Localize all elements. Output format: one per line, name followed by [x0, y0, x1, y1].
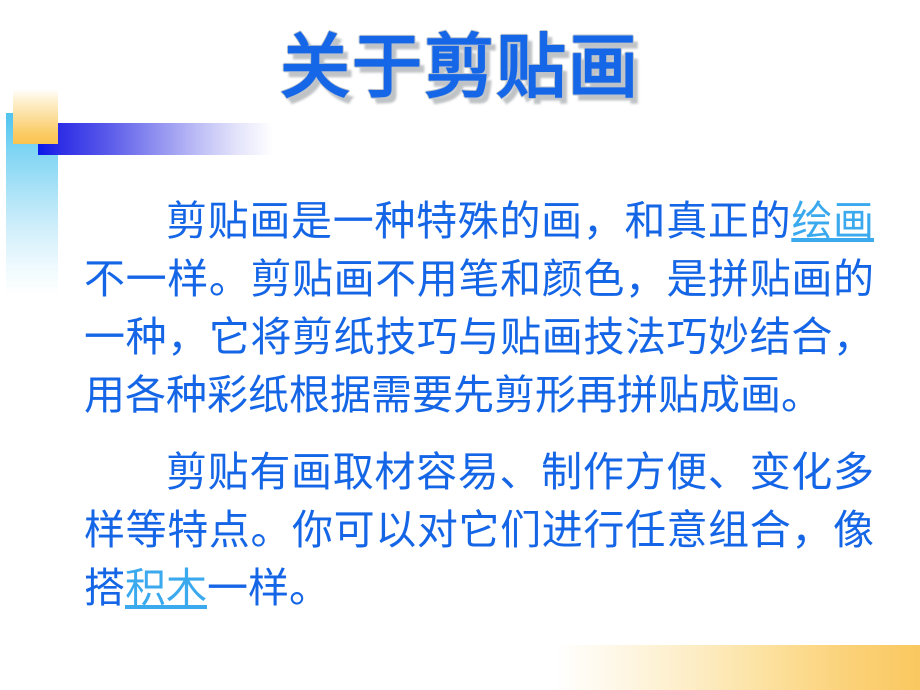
slide-title: 关于剪贴画 [0, 28, 920, 106]
paragraph-2-text-part-2: 一样。 [207, 565, 330, 611]
decoration-horizontal-blue-bar [38, 123, 273, 155]
slide-body: 剪贴画是一种特殊的画，和真正的绘画不一样。剪贴画不用笔和颜色，是拼贴画的一种，它… [84, 192, 874, 617]
link-jimu[interactable]: 积木 [125, 565, 207, 611]
decoration-bottom-orange-bar [555, 645, 920, 690]
paragraph-1: 剪贴画是一种特殊的画，和真正的绘画不一样。剪贴画不用笔和颜色，是拼贴画的一种，它… [84, 192, 874, 424]
paragraph-1-text-part-2: 不一样。剪贴画不用笔和颜色，是拼贴画的一种，它将剪纸技巧与贴画技法巧妙结合，用各… [84, 256, 874, 418]
slide-canvas: 关于剪贴画 剪贴画是一种特殊的画，和真正的绘画不一样。剪贴画不用笔和颜色，是拼贴… [0, 0, 920, 690]
paragraph-1-text-part-1: 剪贴画是一种特殊的画，和真正的 [166, 198, 791, 244]
link-huihua[interactable]: 绘画 [791, 198, 874, 244]
paragraph-2: 剪贴有画取材容易、制作方便、变化多样等特点。你可以对它们进行任意组合，像搭积木一… [84, 443, 874, 617]
